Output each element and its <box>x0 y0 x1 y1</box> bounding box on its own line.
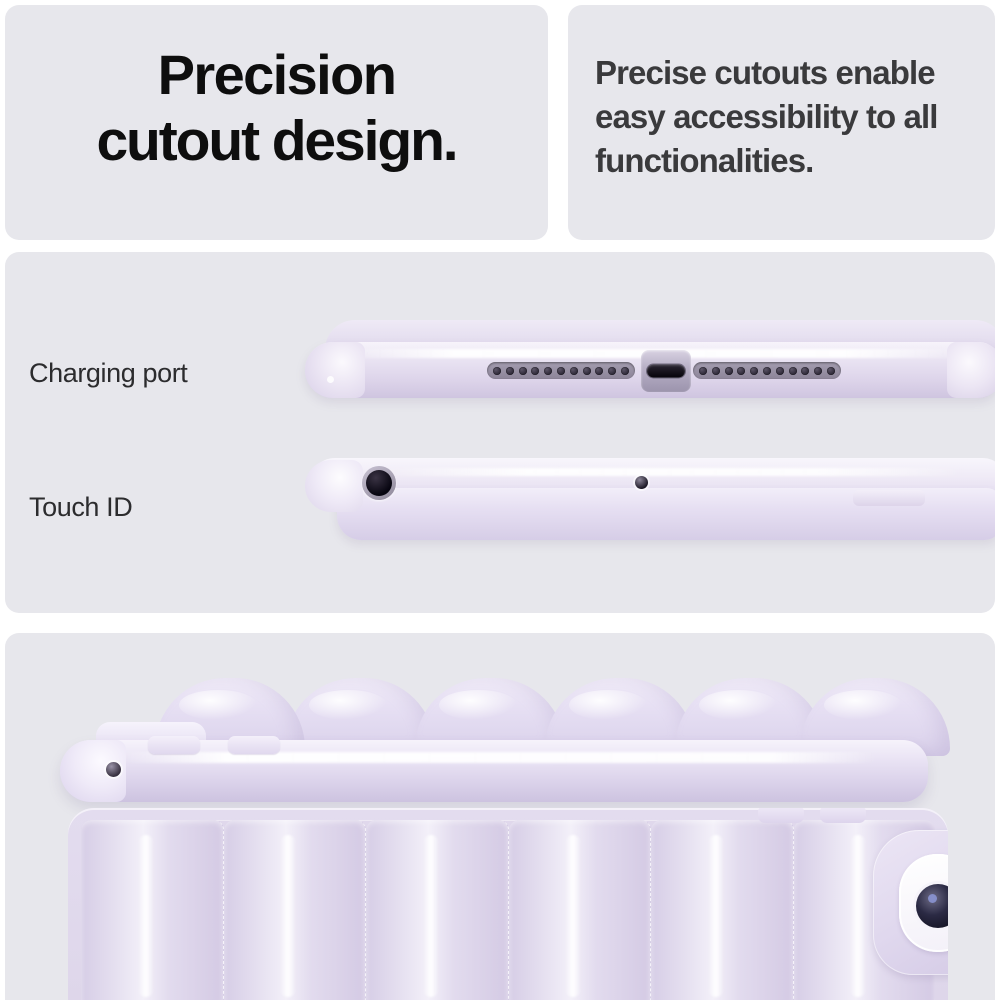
page-title: Precision cutout design. <box>5 43 548 174</box>
headline-line-2: cutout design. <box>5 108 548 174</box>
charging-port-slot <box>647 365 685 378</box>
subcopy-text: Precise cutouts enable easy accessibilit… <box>595 51 981 183</box>
quilt-channel <box>224 820 367 1000</box>
side-button-cover <box>853 490 925 506</box>
quilt-panel <box>81 820 935 1000</box>
case-left-corner-touchid <box>305 460 363 512</box>
quilt-channel <box>509 820 652 1000</box>
speaker-grille-left-icon <box>487 362 635 379</box>
quilt-channel <box>81 820 224 1000</box>
headline-panel: Precision cutout design. <box>5 5 548 240</box>
quilt-channel <box>366 820 509 1000</box>
product-feature-image: Precision cutout design. Precise cutouts… <box>0 0 1000 1000</box>
case-back-quilted-image <box>68 808 948 1000</box>
camera-housing <box>899 854 948 952</box>
tablet-bottom-edge-image <box>305 320 995 402</box>
case-side-profile-image <box>60 678 940 808</box>
case-left-corner <box>305 342 365 398</box>
camera-lens-icon <box>916 884 948 928</box>
subcopy-panel: Precise cutouts enable easy accessibilit… <box>568 5 995 240</box>
charging-port-cutout <box>641 350 691 392</box>
cutouts-panel: Charging port Touch ID <box>5 252 995 613</box>
case-right-corner <box>947 342 995 398</box>
speaker-grille-right-icon <box>693 362 841 379</box>
charging-port-label: Charging port <box>29 358 187 389</box>
touch-id-button-cutout <box>362 466 396 500</box>
microphone-hole-icon <box>635 476 648 489</box>
profile-panel <box>5 633 995 1000</box>
quilt-channel <box>651 820 794 1000</box>
touch-id-label: Touch ID <box>29 492 132 523</box>
profile-microphone-icon <box>106 762 121 777</box>
volume-down-button-cover <box>228 736 280 754</box>
volume-up-button-cover <box>148 736 200 754</box>
back-volume-button-cover-2 <box>820 808 866 823</box>
back-volume-button-cover-1 <box>758 808 804 823</box>
headline-line-1: Precision <box>5 43 548 108</box>
tablet-touch-id-edge-image <box>305 452 995 544</box>
camera-bump <box>873 830 948 975</box>
corner-highlight <box>327 376 334 383</box>
